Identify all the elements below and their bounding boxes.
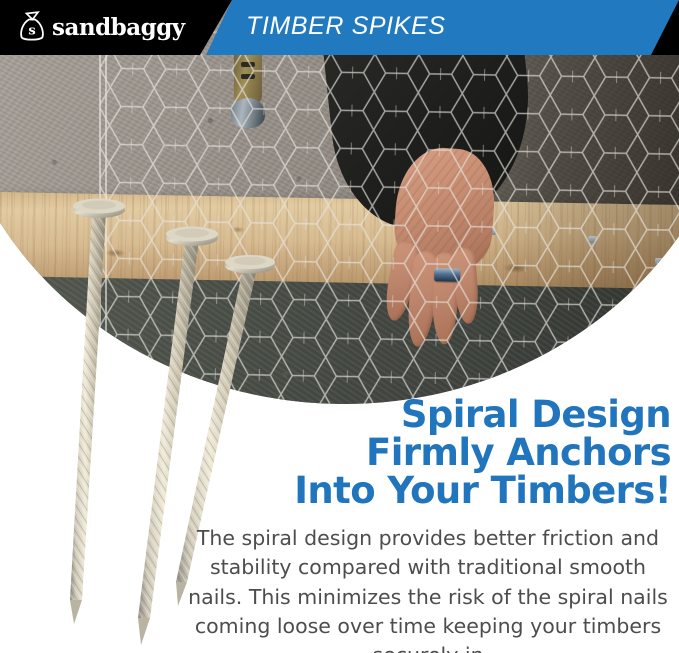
hammer-head — [231, 98, 265, 128]
hand-icon — [374, 144, 508, 382]
product-photo — [0, 0, 679, 420]
asphalt-ground — [0, 276, 679, 404]
ring-icon — [434, 268, 460, 281]
staple-icon — [655, 258, 664, 265]
copy-block: Spiral Design Firmly Anchors Into Your T… — [171, 396, 671, 653]
page-title: Spiral Design Firmly Anchors Into Your T… — [171, 396, 671, 510]
hammer-claw — [234, 50, 262, 104]
svg-text:s: s — [28, 24, 35, 39]
headline-line-2: Firmly Anchors — [171, 434, 671, 472]
brand-logo-text: sandbaggy — [52, 16, 185, 39]
header-title: TIMBER SPIKES — [246, 12, 446, 41]
product-infographic: s sandbaggy TIMBER SPIKES Spiral Design … — [0, 0, 679, 653]
sandbag-icon: s — [17, 11, 47, 43]
photo-scene — [0, 0, 679, 404]
staple-icon — [588, 236, 597, 243]
headline-line-1: Spiral Design — [171, 396, 671, 434]
body-paragraph: The spiral design provides better fricti… — [171, 524, 671, 653]
photo-ellipse-mask — [0, 0, 679, 404]
headline-line-3: Into Your Timbers! — [171, 472, 671, 510]
brand-logo[interactable]: s sandbaggy — [17, 9, 185, 45]
